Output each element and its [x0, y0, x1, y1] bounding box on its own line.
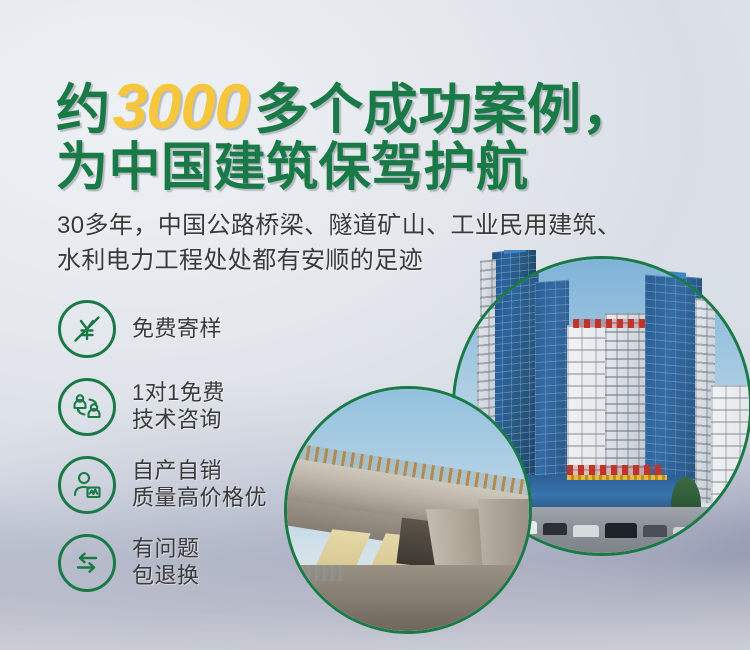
feature-item-return-exchange[interactable]: 有问题 包退换: [58, 532, 267, 594]
headline-prefix: 约: [56, 80, 111, 140]
roof-sign-upper: [573, 319, 645, 328]
feature-text-return-exchange: 有问题 包退换: [132, 536, 200, 590]
feature-line: 免费寄样: [132, 316, 222, 343]
roof-sign-lower: [567, 465, 663, 475]
feature-item-consultation[interactable]: 1对1免费 技术咨询: [58, 376, 267, 438]
headline-line-1: 约3000多个成功案例，: [56, 74, 696, 141]
headline-line-2: 为中国建筑保驾护航: [56, 141, 696, 196]
headline-line-2-text: 为中国建筑保驾护航: [56, 139, 529, 197]
one-to-one-consult-icon: [58, 378, 116, 436]
far-right-white-building: [711, 385, 750, 507]
headline-suffix: 多个成功案例，: [255, 80, 637, 140]
feature-item-free-sample[interactable]: 免费寄样: [58, 298, 267, 360]
parked-car: [643, 525, 667, 537]
headline: 约3000多个成功案例， 为中国建筑保驾护航: [56, 74, 696, 196]
no-fee-yuan-icon: [58, 300, 116, 358]
feature-line: 有问题: [132, 536, 200, 563]
feature-text-consultation: 1对1免费 技术咨询: [132, 380, 225, 434]
parked-car: [543, 523, 567, 535]
bridge-photo: [284, 386, 532, 634]
feature-text-free-sample: 免费寄样: [132, 316, 222, 343]
subtitle-line-1: 30多年，中国公路桥梁、隧道矿山、工业民用建筑、: [57, 208, 707, 243]
parked-car: [673, 527, 693, 537]
self-production-chart-icon: [58, 456, 116, 514]
feature-item-self-production[interactable]: 自产自销 质量高价格优: [58, 454, 267, 516]
exchange-return-icon: [58, 534, 116, 592]
headline-number: 3000: [111, 72, 255, 142]
feature-text-self-production: 自产自销 质量高价格优: [132, 458, 267, 512]
podium-gold-trim: [567, 475, 667, 480]
parked-car: [605, 523, 637, 538]
feature-line: 1对1免费: [132, 380, 225, 407]
bridge-far-structures: [291, 565, 345, 581]
feature-line: 质量高价格优: [132, 485, 267, 512]
parked-car: [573, 525, 599, 537]
feature-list: 免费寄样 1对1免费 技术咨询: [58, 298, 267, 594]
promo-banner: 约3000多个成功案例， 为中国建筑保驾护航 30多年，中国公路桥梁、隧道矿山、…: [0, 0, 750, 650]
feature-line: 技术咨询: [132, 407, 225, 434]
feature-line: 包退换: [132, 563, 200, 590]
feature-line: 自产自销: [132, 458, 267, 485]
